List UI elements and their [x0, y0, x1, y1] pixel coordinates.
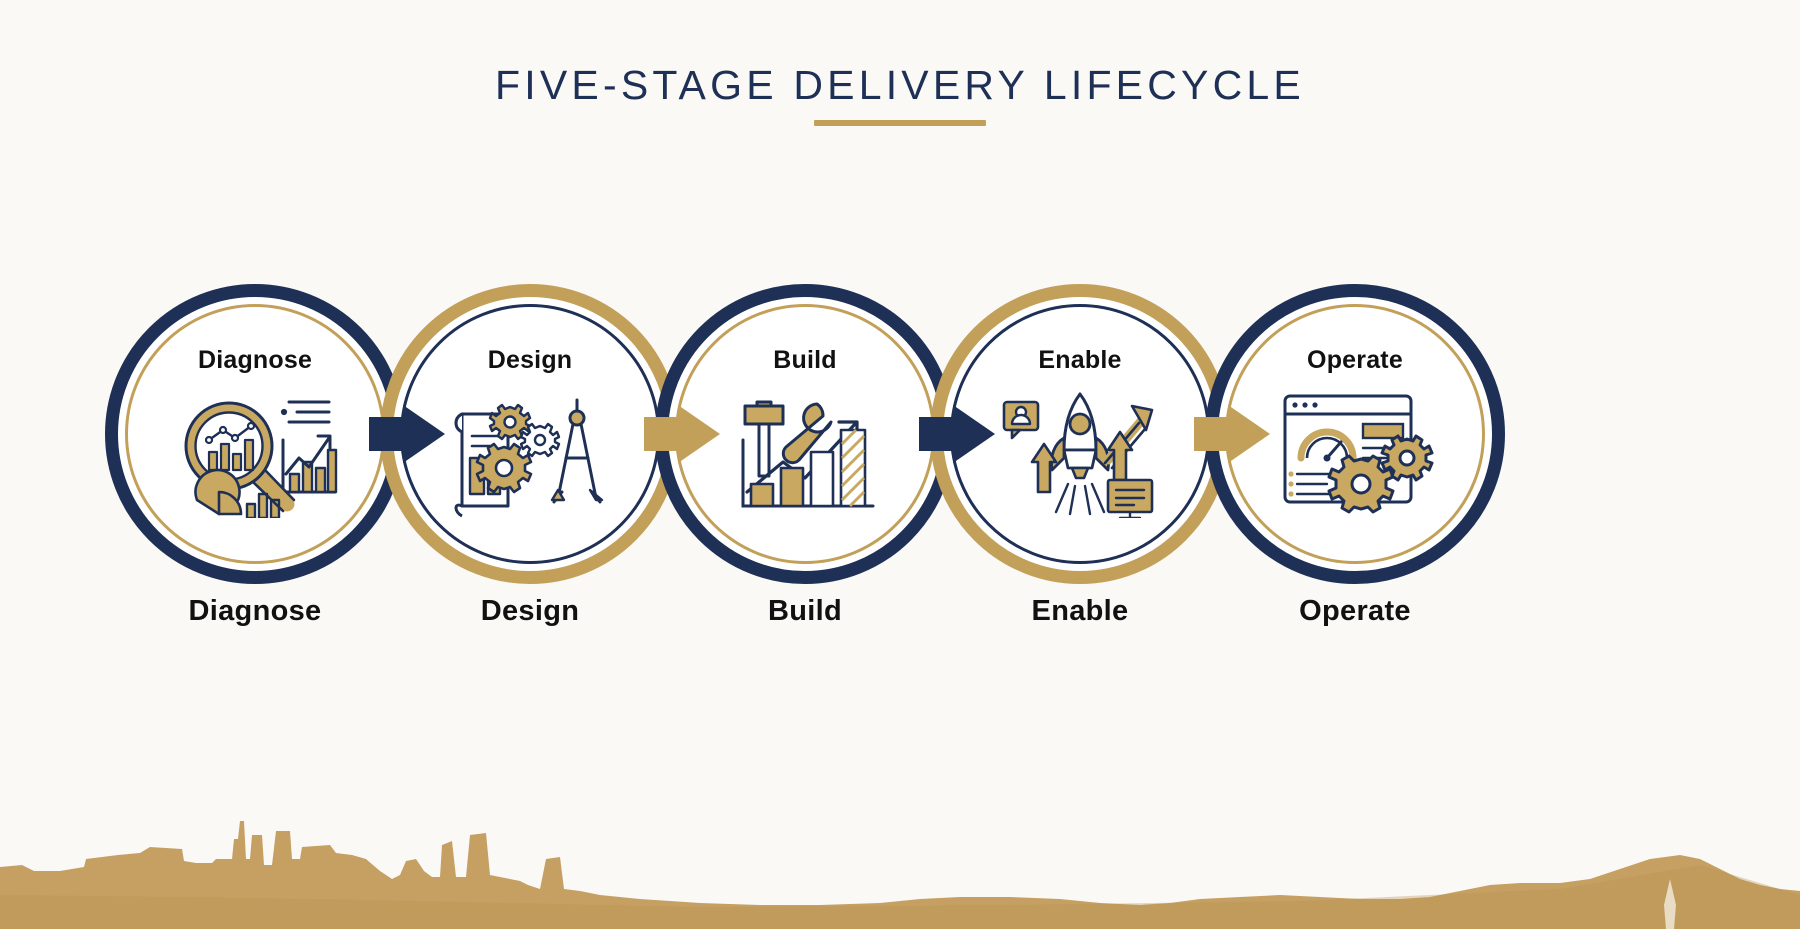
stage-caption-enable: Enable: [930, 595, 1230, 628]
gold-skyline-silhouette: [0, 699, 1800, 929]
title-underline-rule: [814, 120, 986, 126]
stage-caption-design: Design: [380, 595, 680, 628]
stage-inner-title-operate: Operate: [1205, 346, 1505, 375]
flow-arrow-4: [1194, 403, 1270, 465]
hammer-wrench-growth-icon: [721, 388, 889, 518]
stage-inner-title-enable: Enable: [930, 346, 1230, 375]
flow-arrow-3: [919, 403, 995, 465]
stage-inner-title-build: Build: [655, 346, 955, 375]
slide-canvas: FIVE-STAGE DELIVERY LIFECYCLE Diagnose: [0, 0, 1800, 929]
stage-caption-diagnose: Diagnose: [105, 595, 405, 628]
dashboard-gears-icon: [1271, 388, 1439, 518]
magnifier-analytics-icon: [171, 388, 339, 518]
lifecycle-flow: Diagnose: [0, 284, 1800, 584]
flow-arrow-2: [644, 403, 720, 465]
stage-node-diagnose[interactable]: Diagnose: [105, 284, 405, 584]
rocket-launch-icon: [996, 388, 1164, 518]
stage-caption-operate: Operate: [1205, 595, 1505, 628]
stage-inner-title-design: Design: [380, 346, 680, 375]
page-title-block: FIVE-STAGE DELIVERY LIFECYCLE: [0, 62, 1800, 109]
flow-arrow-1: [369, 403, 445, 465]
stage-caption-build: Build: [655, 595, 955, 628]
stage-inner-title-diagnose: Diagnose: [105, 346, 405, 375]
page-title: FIVE-STAGE DELIVERY LIFECYCLE: [495, 62, 1305, 109]
blueprint-gears-compass-icon: [446, 388, 614, 518]
